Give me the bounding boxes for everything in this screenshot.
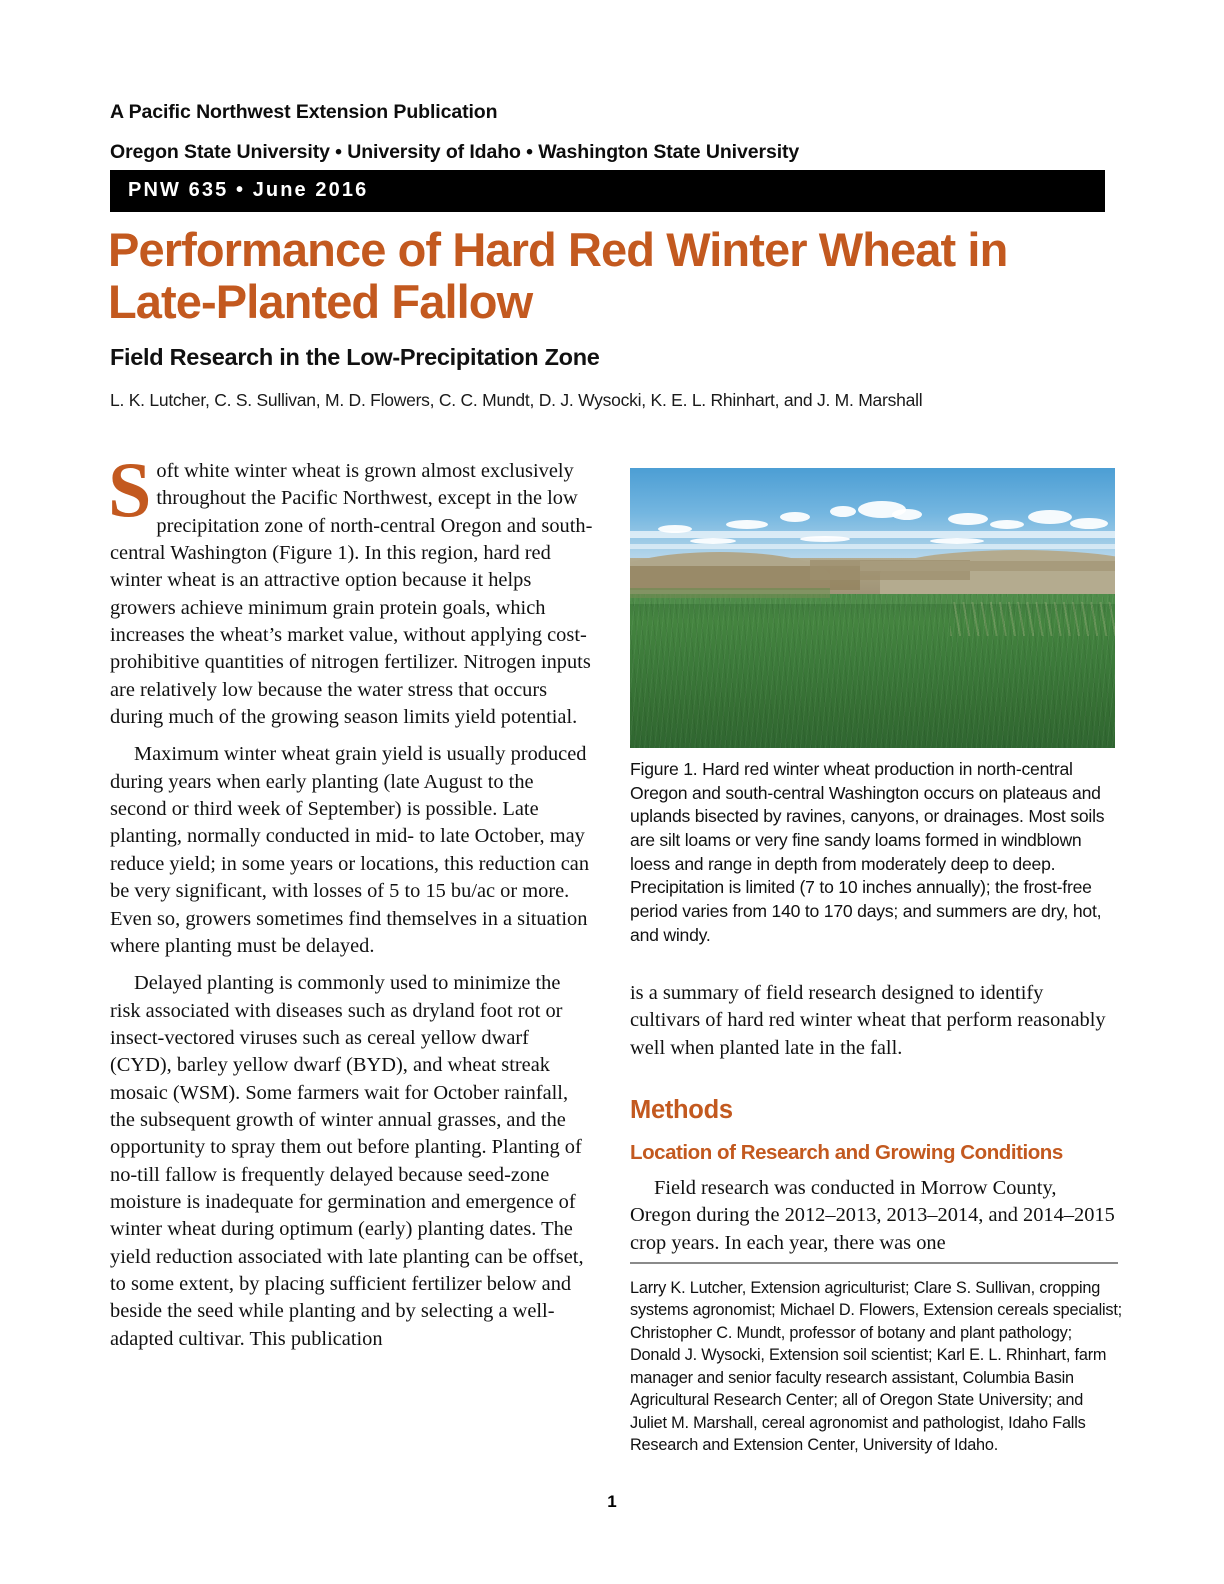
paragraph-delayed-planting: Delayed planting is commonly used to min… [110,970,593,1353]
page-subtitle: Field Research in the Low-Precipitation … [110,344,1120,371]
photo-cloud [1070,518,1108,529]
footnote-divider [630,1262,1118,1264]
spacer [630,1125,1115,1141]
photo-cloud [726,520,768,529]
photo-cloud [990,520,1024,529]
figure-1-photo [630,468,1115,748]
spacer [630,1165,1115,1175]
section-heading-methods: Methods [630,1096,1115,1125]
photo-cloud [830,506,856,517]
paragraph-maximum-yield: Maximum winter wheat grain yield is usua… [110,741,593,960]
photo-grass-texture [630,594,1115,748]
paragraph-field-research: Field research was conducted in Morrow C… [630,1175,1115,1257]
photo-cloud-band [630,544,1115,549]
left-column: Soft white winter wheat is grown almost … [110,458,593,1353]
spacer [110,960,593,970]
masthead-universities-line: Oregon State University • University of … [110,140,1115,164]
author-affiliations-footnote: Larry K. Lutcher, Extension agriculturis… [630,1277,1122,1457]
spacer [110,731,593,741]
document-page: A Pacific Northwest Extension Publicatio… [0,0,1224,1584]
subsection-heading-location: Location of Research and Growing Conditi… [630,1141,1115,1165]
spacer [630,1062,1115,1096]
photo-field-left-edge [630,588,830,598]
drop-cap: S [108,458,156,521]
photo-cloud [1028,510,1072,524]
photo-cloud-band [630,531,1115,538]
page-title: Performance of Hard Red Winter Wheat in … [108,224,1118,327]
masthead-publication-line: A Pacific Northwest Extension Publicatio… [110,100,1115,124]
photo-cloud [800,536,850,542]
paragraph-summary: is a summary of field research designed … [630,980,1115,1062]
masthead: A Pacific Northwest Extension Publicatio… [110,100,1115,165]
photo-cloud [892,509,922,520]
photo-cloud [930,538,984,544]
photo-hill-ridge [860,561,1115,571]
author-list: L. K. Lutcher, C. S. Sullivan, M. D. Flo… [110,390,1120,411]
figure-1-caption: Figure 1. Hard red winter wheat producti… [630,758,1117,947]
publication-id-text: PNW 635 • June 2016 [128,179,368,202]
photo-cloud [658,525,692,533]
right-column-flow: is a summary of field research designed … [630,980,1115,1257]
photo-wheat-field [630,594,1115,748]
paragraph-intro: Soft white winter wheat is grown almost … [110,458,593,731]
page-number: 1 [0,1492,1224,1512]
photo-cloud [948,513,988,525]
photo-cloud [780,512,810,522]
photo-cloud [690,538,736,544]
publication-id-banner: PNW 635 • June 2016 [110,170,1105,212]
paragraph-intro-text: oft white winter wheat is grown almost e… [110,460,592,728]
